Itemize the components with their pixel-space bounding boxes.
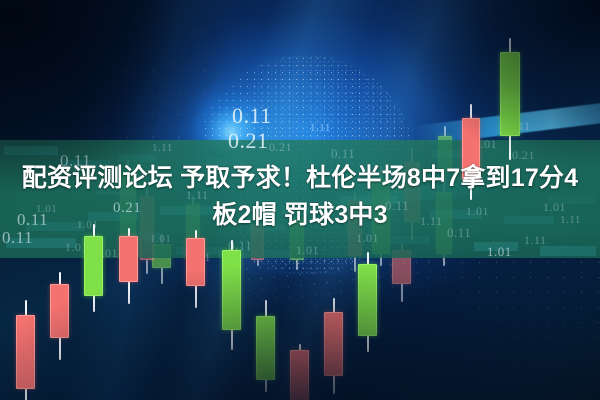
headline-line-1: 配资评测论坛 予取予求！杜伦半场8中7拿到17分4: [6, 160, 594, 197]
headline-line-2: 板2帽 罚球3中3: [6, 197, 594, 234]
banner-image: 0.110.210.111.110.211.111.010.111.010.11…: [0, 0, 600, 400]
headline-text: 配资评测论坛 予取予求！杜伦半场8中7拿到17分4 板2帽 罚球3中3: [0, 160, 600, 234]
